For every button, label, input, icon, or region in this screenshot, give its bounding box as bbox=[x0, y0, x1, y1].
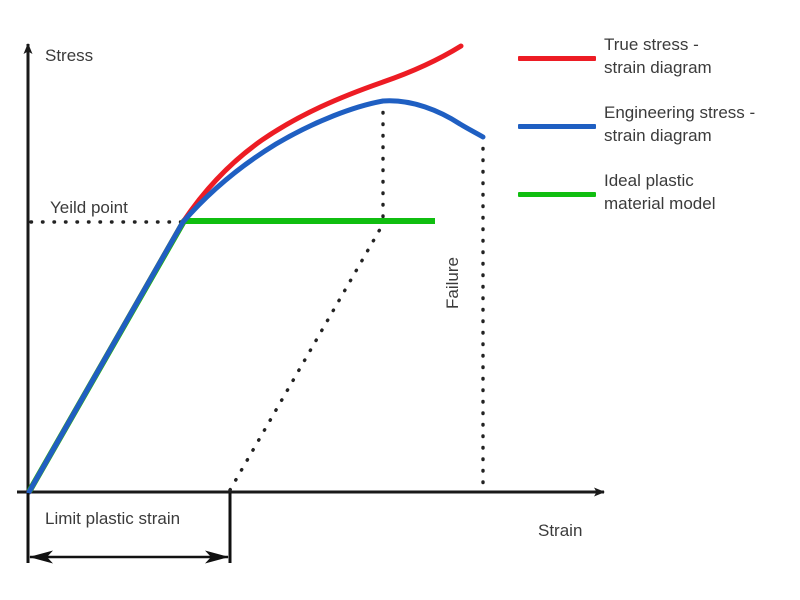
curve-ideal-plastic bbox=[30, 221, 436, 491]
legend-item-ideal-plastic: Ideal plastic material model bbox=[518, 166, 796, 222]
yield-point-label: Yeild point bbox=[50, 198, 128, 218]
legend-label-ideal-plastic: Ideal plastic material model bbox=[604, 166, 796, 216]
curve-engineering-stress bbox=[29, 101, 483, 492]
legend-label-line2: strain diagram bbox=[604, 56, 796, 79]
unload-dotted-diagonal bbox=[230, 224, 383, 490]
legend-swatch-ideal-plastic bbox=[518, 192, 596, 197]
legend-label-true-stress: True stress - strain diagram bbox=[604, 30, 796, 80]
x-axis-label: Strain bbox=[538, 521, 582, 541]
curve-true-stress bbox=[29, 46, 461, 492]
legend-item-true-stress: True stress - strain diagram bbox=[518, 30, 796, 86]
y-axis-label: Stress bbox=[45, 46, 93, 66]
legend-label-line2: material model bbox=[604, 192, 796, 215]
legend-label-line1: Engineering stress - bbox=[604, 101, 796, 124]
guide-lines-group bbox=[31, 101, 483, 490]
stress-strain-diagram: Stress Strain Yeild point Failure Limit … bbox=[0, 0, 800, 600]
legend-item-engineering-stress: Engineering stress - strain diagram bbox=[518, 98, 796, 154]
failure-label: Failure bbox=[443, 257, 463, 309]
legend-swatch-engineering-stress bbox=[518, 124, 596, 129]
legend-label-line1: Ideal plastic bbox=[604, 169, 796, 192]
legend-label-line1: True stress - bbox=[604, 33, 796, 56]
limit-plastic-strain-label: Limit plastic strain bbox=[45, 509, 180, 529]
legend: True stress - strain diagram Engineering… bbox=[518, 30, 796, 234]
legend-label-engineering-stress: Engineering stress - strain diagram bbox=[604, 98, 796, 148]
legend-swatch-true-stress bbox=[518, 56, 596, 61]
legend-label-line2: strain diagram bbox=[604, 124, 796, 147]
